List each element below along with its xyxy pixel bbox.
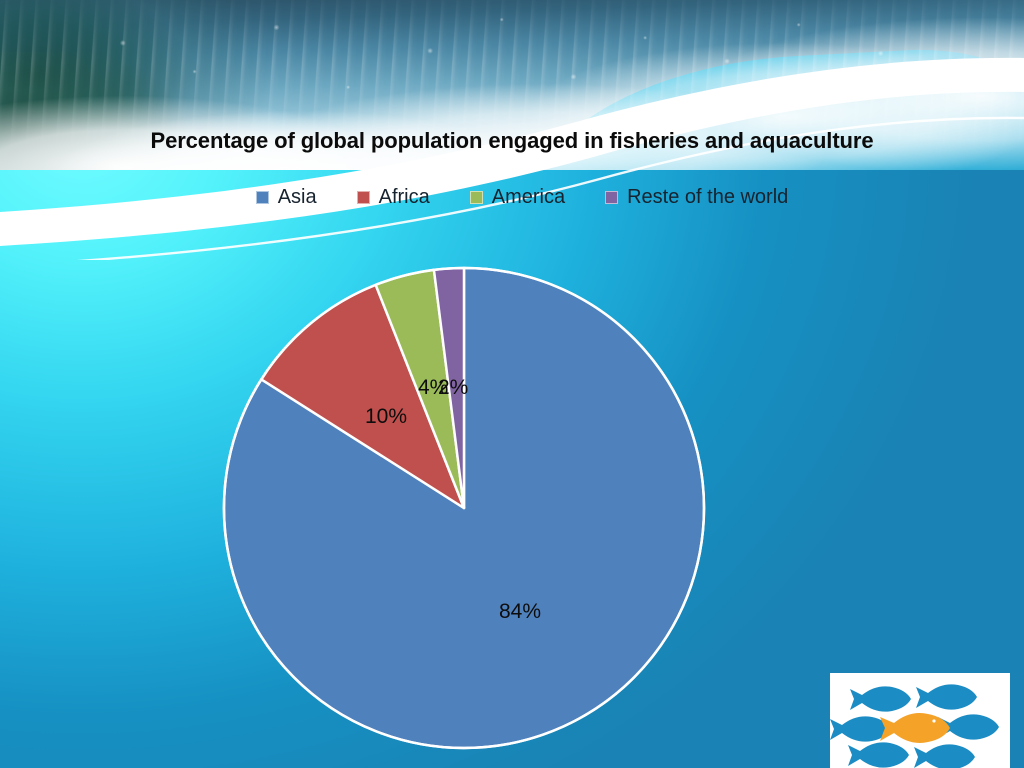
chart-legend: Asia Africa America Reste of the world: [0, 186, 1024, 209]
fish-icon: [916, 684, 977, 709]
legend-label-africa: Africa: [379, 186, 430, 209]
legend-swatch-square-africa: [357, 191, 370, 204]
pie-label-asia: 84%: [499, 600, 541, 624]
legend-swatch-square-asia: [256, 191, 269, 204]
fish-icon: [848, 742, 909, 767]
pie-chart: 84% 10% 4% 2%: [222, 266, 706, 750]
legend-label-america: America: [492, 186, 565, 209]
fish-icon: [914, 744, 975, 768]
legend-item-reste-of-the-world[interactable]: Reste of the world: [605, 186, 788, 209]
fish-group-highlight: [880, 713, 950, 743]
legend-item-asia[interactable]: Asia: [256, 186, 317, 209]
school-of-fish-logo: [830, 673, 1010, 768]
legend-item-africa[interactable]: Africa: [357, 186, 430, 209]
fish-eye-icon: [932, 719, 935, 722]
pie-label-africa: 10%: [365, 405, 407, 429]
pie-chart-svg: [222, 266, 706, 750]
legend-label-asia: Asia: [278, 186, 317, 209]
water-bubbles: [0, 4, 1024, 134]
page-title: Percentage of global population engaged …: [0, 128, 1024, 154]
fish-logo-svg: [830, 673, 1010, 768]
slide-canvas: Percentage of global population engaged …: [0, 0, 1024, 768]
legend-item-america[interactable]: America: [470, 186, 565, 209]
fish-icon: [850, 686, 911, 711]
legend-swatch-square-reste-of-the-world: [605, 191, 618, 204]
pie-label-reste-of-the-world: 2%: [438, 376, 468, 400]
legend-label-reste-of-the-world: Reste of the world: [627, 186, 788, 209]
highlight-fish-icon: [880, 713, 950, 743]
legend-swatch-square-america: [470, 191, 483, 204]
